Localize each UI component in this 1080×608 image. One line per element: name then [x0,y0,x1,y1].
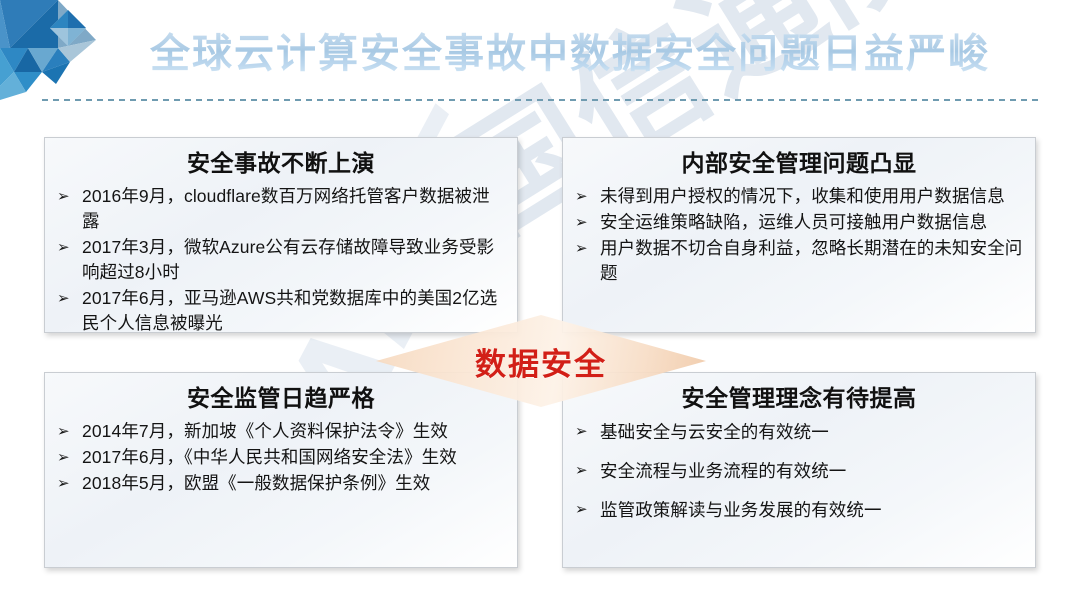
list-item-text: 2014年7月，新加坡《个人资料保护法令》生效 [82,421,448,441]
list-item: ➢ 2014年7月，新加坡《个人资料保护法令》生效 [55,419,507,444]
bullet-list: ➢ 2014年7月，新加坡《个人资料保护法令》生效 ➢ 2017年6月，《中华人… [55,419,507,496]
center-badge-label: 数据安全 [376,315,706,407]
arrow-bullet-icon: ➢ [57,471,70,496]
arrow-bullet-icon: ➢ [575,419,588,444]
bullet-list: ➢ 未得到用户授权的情况下，收集和使用用户数据信息 ➢ 安全运维策略缺陷，运维人… [573,184,1025,286]
arrow-bullet-icon: ➢ [575,458,588,483]
arrow-bullet-icon: ➢ [57,184,70,209]
arrow-bullet-icon: ➢ [57,445,70,470]
arrow-bullet-icon: ➢ [575,210,588,235]
list-item: ➢ 2017年6月，《中华人民共和国网络安全法》生效 [55,445,507,470]
list-item: ➢ 2018年5月，欧盟《一般数据保护条例》生效 [55,471,507,496]
arrow-bullet-icon: ➢ [57,286,70,311]
list-item-text: 2018年5月，欧盟《一般数据保护条例》生效 [82,473,430,493]
arrow-bullet-icon: ➢ [575,184,588,209]
list-item: ➢ 2016年9月，cloudflare数百万网络托管客户数据被泄露 [55,184,507,234]
list-item-text: 安全流程与业务流程的有效统一 [600,461,846,481]
center-badge: 数据安全 [376,315,706,407]
arrow-bullet-icon: ➢ [57,235,70,260]
bullet-list: ➢ 基础安全与云安全的有效统一 ➢ 安全流程与业务流程的有效统一 ➢ 监管政策解… [573,419,1025,523]
list-item-text: 未得到用户授权的情况下，收集和使用用户数据信息 [600,186,1005,206]
list-item: ➢ 用户数据不切合自身利益，忽略长期潜在的未知安全问题 [573,236,1025,286]
panel-title: 内部安全管理问题凸显 [573,148,1025,180]
page-title: 全球云计算安全事故中数据安全问题日益严峻 [120,26,1020,82]
bullet-list: ➢ 2016年9月，cloudflare数百万网络托管客户数据被泄露 ➢ 201… [55,184,507,336]
slide-canvas: 中国信通院 CAICT 全球云计算安全事故中数据安全问题日益严峻 [0,0,1080,608]
panel-title: 安全事故不断上演 [55,148,507,180]
list-item: ➢ 2017年3月，微软Azure公有云存储故障导致业务受影响超过8小时 [55,235,507,285]
caict-logo [0,0,120,100]
list-item: ➢ 监管政策解读与业务发展的有效统一 [573,497,1025,523]
panel-security-incidents: 安全事故不断上演 ➢ 2016年9月，cloudflare数百万网络托管客户数据… [44,137,518,333]
list-item-text: 2017年3月，微软Azure公有云存储故障导致业务受影响超过8小时 [82,237,494,282]
arrow-bullet-icon: ➢ [57,419,70,444]
list-item: ➢ 未得到用户授权的情况下，收集和使用用户数据信息 [573,184,1025,209]
list-item: ➢ 安全运维策略缺陷，运维人员可接触用户数据信息 [573,210,1025,235]
list-item-text: 安全运维策略缺陷，运维人员可接触用户数据信息 [600,212,987,232]
arrow-bullet-icon: ➢ [575,497,588,522]
list-item: ➢ 安全流程与业务流程的有效统一 [573,458,1025,484]
panel-internal-management: 内部安全管理问题凸显 ➢ 未得到用户授权的情况下，收集和使用用户数据信息 ➢ 安… [562,137,1036,333]
list-item-text: 2016年9月，cloudflare数百万网络托管客户数据被泄露 [82,186,490,231]
list-item-text: 基础安全与云安全的有效统一 [600,422,829,442]
list-item-text: 用户数据不切合自身利益，忽略长期潜在的未知安全问题 [600,238,1022,283]
title-divider [42,99,1038,101]
arrow-bullet-icon: ➢ [575,236,588,261]
logo-geometric-mark [0,0,120,100]
list-item-text: 监管政策解读与业务发展的有效统一 [600,500,882,520]
list-item-text: 2017年6月，《中华人民共和国网络安全法》生效 [82,447,457,467]
list-item: ➢ 基础安全与云安全的有效统一 [573,419,1025,445]
